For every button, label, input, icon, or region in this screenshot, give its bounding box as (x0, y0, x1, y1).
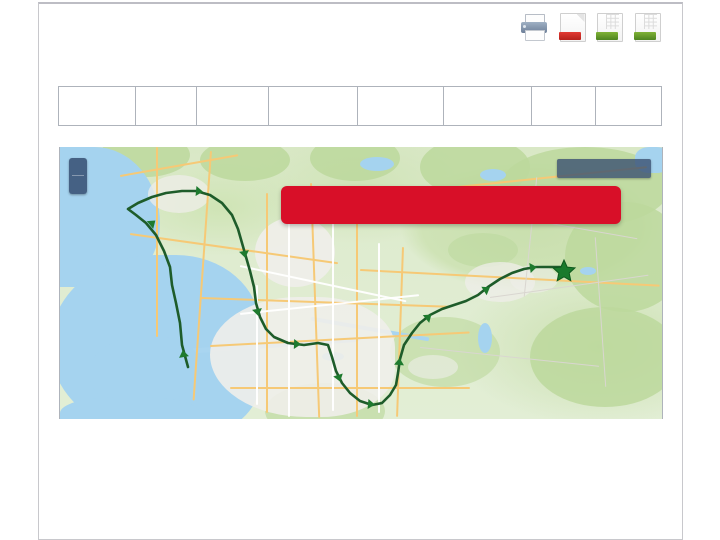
col-avg-speed (357, 87, 443, 126)
mileage-report-table (58, 86, 662, 126)
xls-export-icon[interactable] (595, 11, 623, 41)
map-zoom-controls[interactable] (69, 158, 87, 194)
zoom-separator (72, 175, 84, 176)
printer-led (523, 25, 526, 28)
xls-badge (596, 32, 618, 40)
printer-paper-out (525, 30, 545, 41)
doc-fold (577, 14, 585, 22)
col-date (59, 87, 136, 126)
col-idle-time (268, 87, 357, 126)
print-icon[interactable] (520, 11, 548, 41)
col-max-speed (443, 87, 531, 126)
map-type-button[interactable] (557, 159, 651, 178)
csv-badge (634, 32, 656, 40)
pdf-export-icon[interactable] (558, 11, 586, 41)
csv-export-icon[interactable] (633, 11, 661, 41)
col-move-time (196, 87, 268, 126)
csv-letter (634, 12, 647, 32)
pdf-badge (559, 32, 581, 40)
col-end (596, 87, 662, 126)
col-start (531, 87, 596, 126)
xls-letter (596, 12, 609, 32)
header-row (59, 87, 662, 126)
report-page (0, 0, 720, 540)
pdf-letter (560, 12, 575, 30)
promo-banner (281, 186, 621, 224)
export-toolbar (520, 11, 660, 43)
table-header (59, 87, 662, 126)
col-mileage (135, 87, 196, 126)
